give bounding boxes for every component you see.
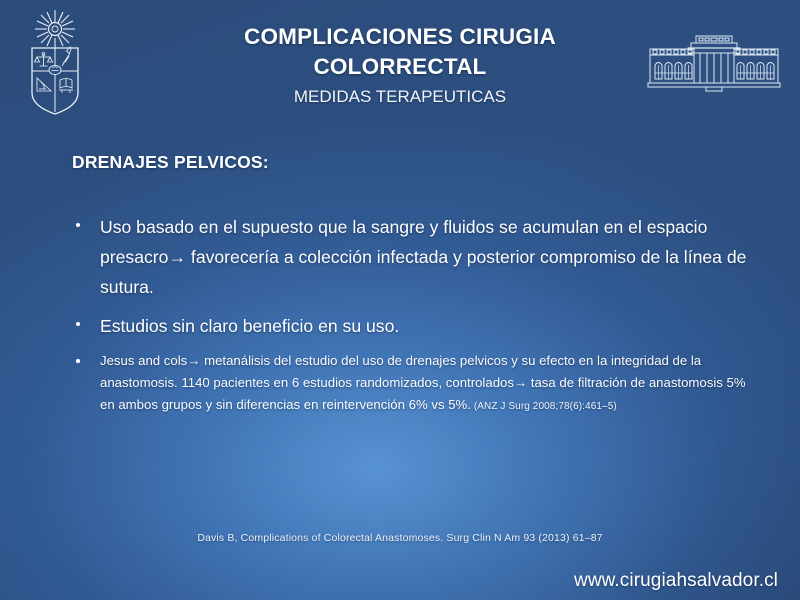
bullet-dot-icon <box>76 322 80 326</box>
slide-header: COMPLICACIONES CIRUGIA COLORRECTAL MEDID… <box>0 0 800 128</box>
bullet-list: Uso basado en el supuesto que la sangre … <box>70 212 758 418</box>
slide-title-line-2: COLORRECTAL <box>150 52 650 82</box>
bullet-text-1: Uso basado en el supuesto que la sangre … <box>100 212 758 302</box>
slide-subtitle: MEDIDAS TERAPEUTICAS <box>150 84 650 110</box>
title-block: COMPLICACIONES CIRUGIA COLORRECTAL MEDID… <box>150 22 650 110</box>
bullet-dot-icon <box>76 223 80 227</box>
bullet-item-3: Jesus and cols→ metanálisis del estudio … <box>70 350 758 418</box>
slide-title-line-1: COMPLICACIONES CIRUGIA <box>150 22 650 52</box>
bullet-text-2: Estudios sin claro beneficio en su uso. <box>100 311 758 341</box>
presentation-slide: COMPLICACIONES CIRUGIA COLORRECTAL MEDID… <box>0 0 800 600</box>
section-heading: DRENAJES PELVICOS: <box>72 152 269 173</box>
bullet-dot-icon <box>76 359 80 363</box>
bullet-text-3: Jesus and cols→ metanálisis del estudio … <box>100 350 758 418</box>
bullet-item-2: Estudios sin claro beneficio en su uso. <box>70 311 758 341</box>
footer-reference: Davis B, Complications of Colorectal Ana… <box>0 532 800 544</box>
website-url: www.cirugiahsalvador.cl <box>574 570 778 592</box>
bullet-text-3-percentages: 6% vs 5%. <box>409 397 471 412</box>
bullet-text-3-citation: (ANZ J Surg 2008;78(6):461–5) <box>471 401 617 412</box>
bullet-item-1: Uso basado en el supuesto que la sangre … <box>70 212 758 302</box>
casa-central-building-icon <box>644 32 784 96</box>
universidad-de-chile-coat-of-arms-icon <box>22 8 88 116</box>
